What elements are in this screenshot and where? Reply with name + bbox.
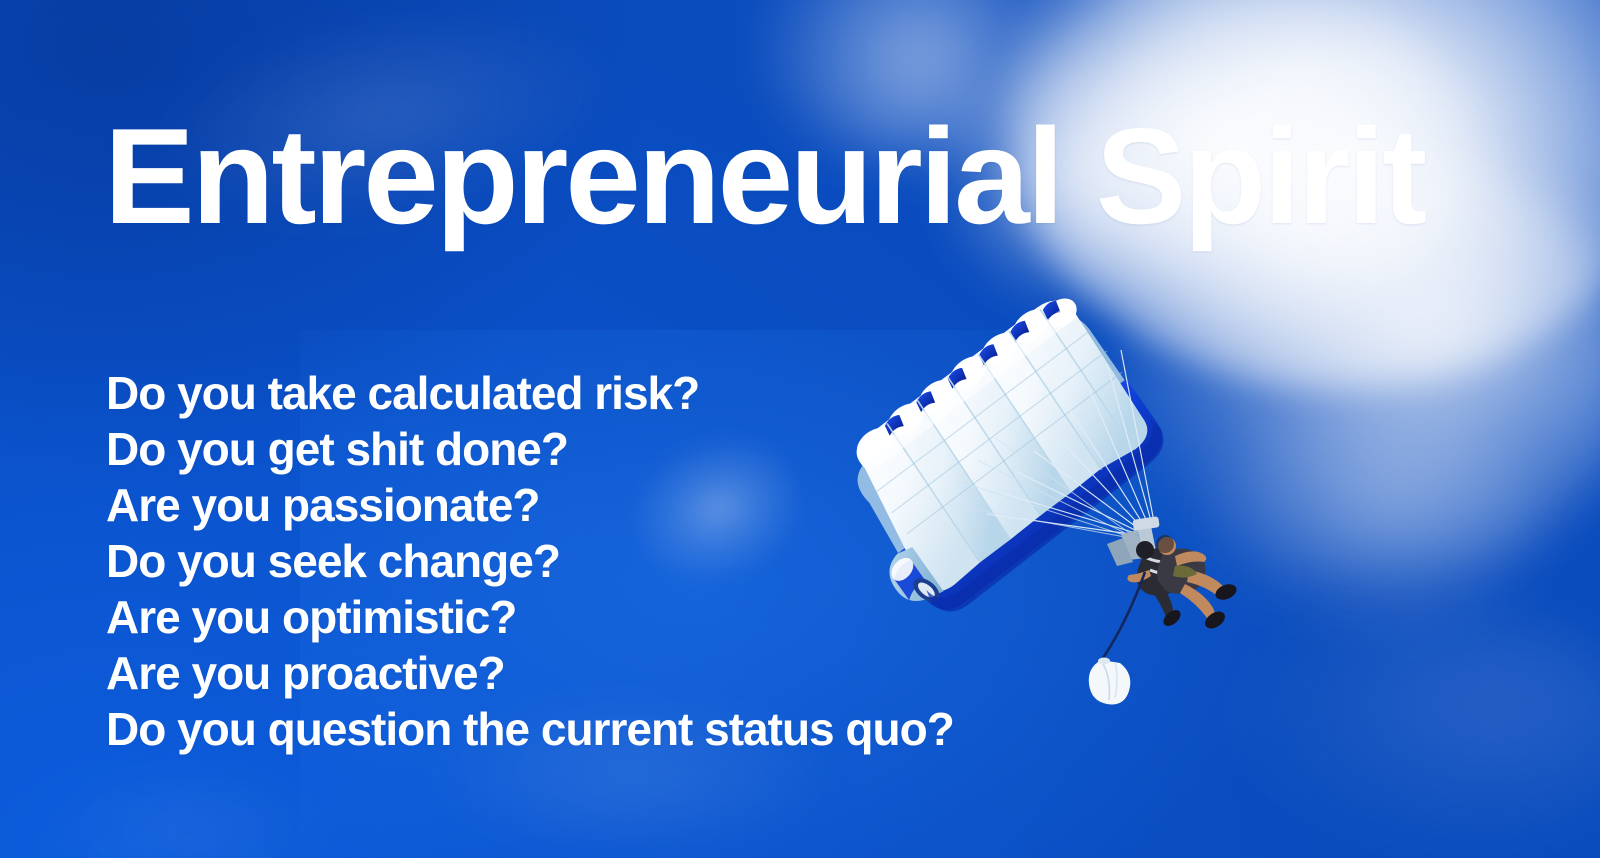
question-line: Do you take calculated risk? [106,365,1106,421]
slide-canvas: Entrepreneurial Spirit Do you take calcu… [0,0,1600,858]
question-line: Do you seek change? [106,533,1106,589]
question-list: Do you take calculated risk? Do you get … [106,365,1106,757]
page-title: Entrepreneurial Spirit [104,108,1424,244]
question-line: Are you passionate? [106,477,1106,533]
question-line: Are you optimistic? [106,589,1106,645]
tandem-skydivers [1127,535,1238,632]
question-line: Do you get shit done? [106,421,1106,477]
jumper-helmet-rear [1136,541,1154,559]
question-line: Do you question the current status quo? [106,701,1106,757]
question-line: Are you proactive? [106,645,1106,701]
